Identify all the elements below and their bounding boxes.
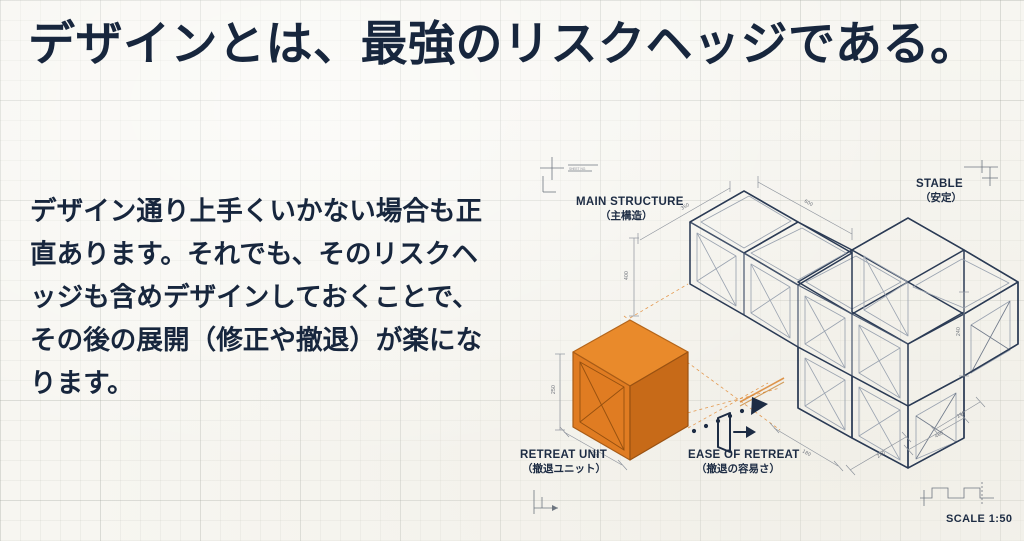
annotation-note-tick: SHEET NO.	[568, 165, 598, 171]
slide-canvas: デザインとは、最強のリスクヘッジである。 デザイン通り上手くいかない場合も正直あ…	[0, 0, 1024, 541]
dim-bottom-1-value: 180	[801, 449, 812, 459]
dim-right-height-value: 240	[956, 327, 962, 336]
annotation-note-text: SHEET NO.	[569, 167, 586, 171]
technical-drawing: SHEET NO.	[512, 140, 1024, 540]
dim-unit-height-value: 250	[551, 385, 557, 394]
dim-top-right-value: 600	[803, 199, 814, 209]
callout-stable: STABLE （安定）	[916, 178, 963, 204]
scale-bar	[920, 482, 994, 506]
registration-mark-top-left	[540, 157, 564, 192]
main-structure-geometry	[690, 191, 1018, 468]
scale-note: SCALE 1:50	[946, 513, 1012, 525]
callout-stable-en: STABLE	[916, 178, 963, 190]
body-paragraph: デザイン通り上手くいかない場合も正直あります。それでも、そのリスクヘッジも含めデ…	[30, 190, 500, 405]
callout-main-structure: MAIN STRUCTURE （主構造）	[576, 196, 684, 222]
callout-main-structure-jp: （主構造）	[600, 209, 653, 222]
callout-retreat-unit-jp: （撤退ユニット）	[522, 462, 606, 475]
callout-main-structure-en: MAIN STRUCTURE	[576, 196, 684, 208]
callout-retreat-unit: RETREAT UNIT （撤退ユニット）	[520, 449, 607, 475]
registration-mark-top-right	[964, 160, 998, 186]
page-title: デザインとは、最強のリスクヘッジである。	[28, 18, 988, 71]
callout-retreat-unit-en: RETREAT UNIT	[520, 449, 607, 461]
callout-ease-of-retreat-en: EASE OF RETREAT	[688, 449, 800, 461]
registration-mark-bottom-left	[534, 490, 558, 514]
callout-ease-of-retreat-jp: （撤退の容易さ）	[696, 462, 780, 475]
callout-ease-of-retreat: EASE OF RETREAT （撤退の容易さ）	[688, 449, 800, 475]
callout-stable-jp: （安定）	[920, 191, 962, 204]
retreat-unit-cube	[573, 320, 688, 460]
dim-left-height-value: 400	[624, 271, 630, 280]
